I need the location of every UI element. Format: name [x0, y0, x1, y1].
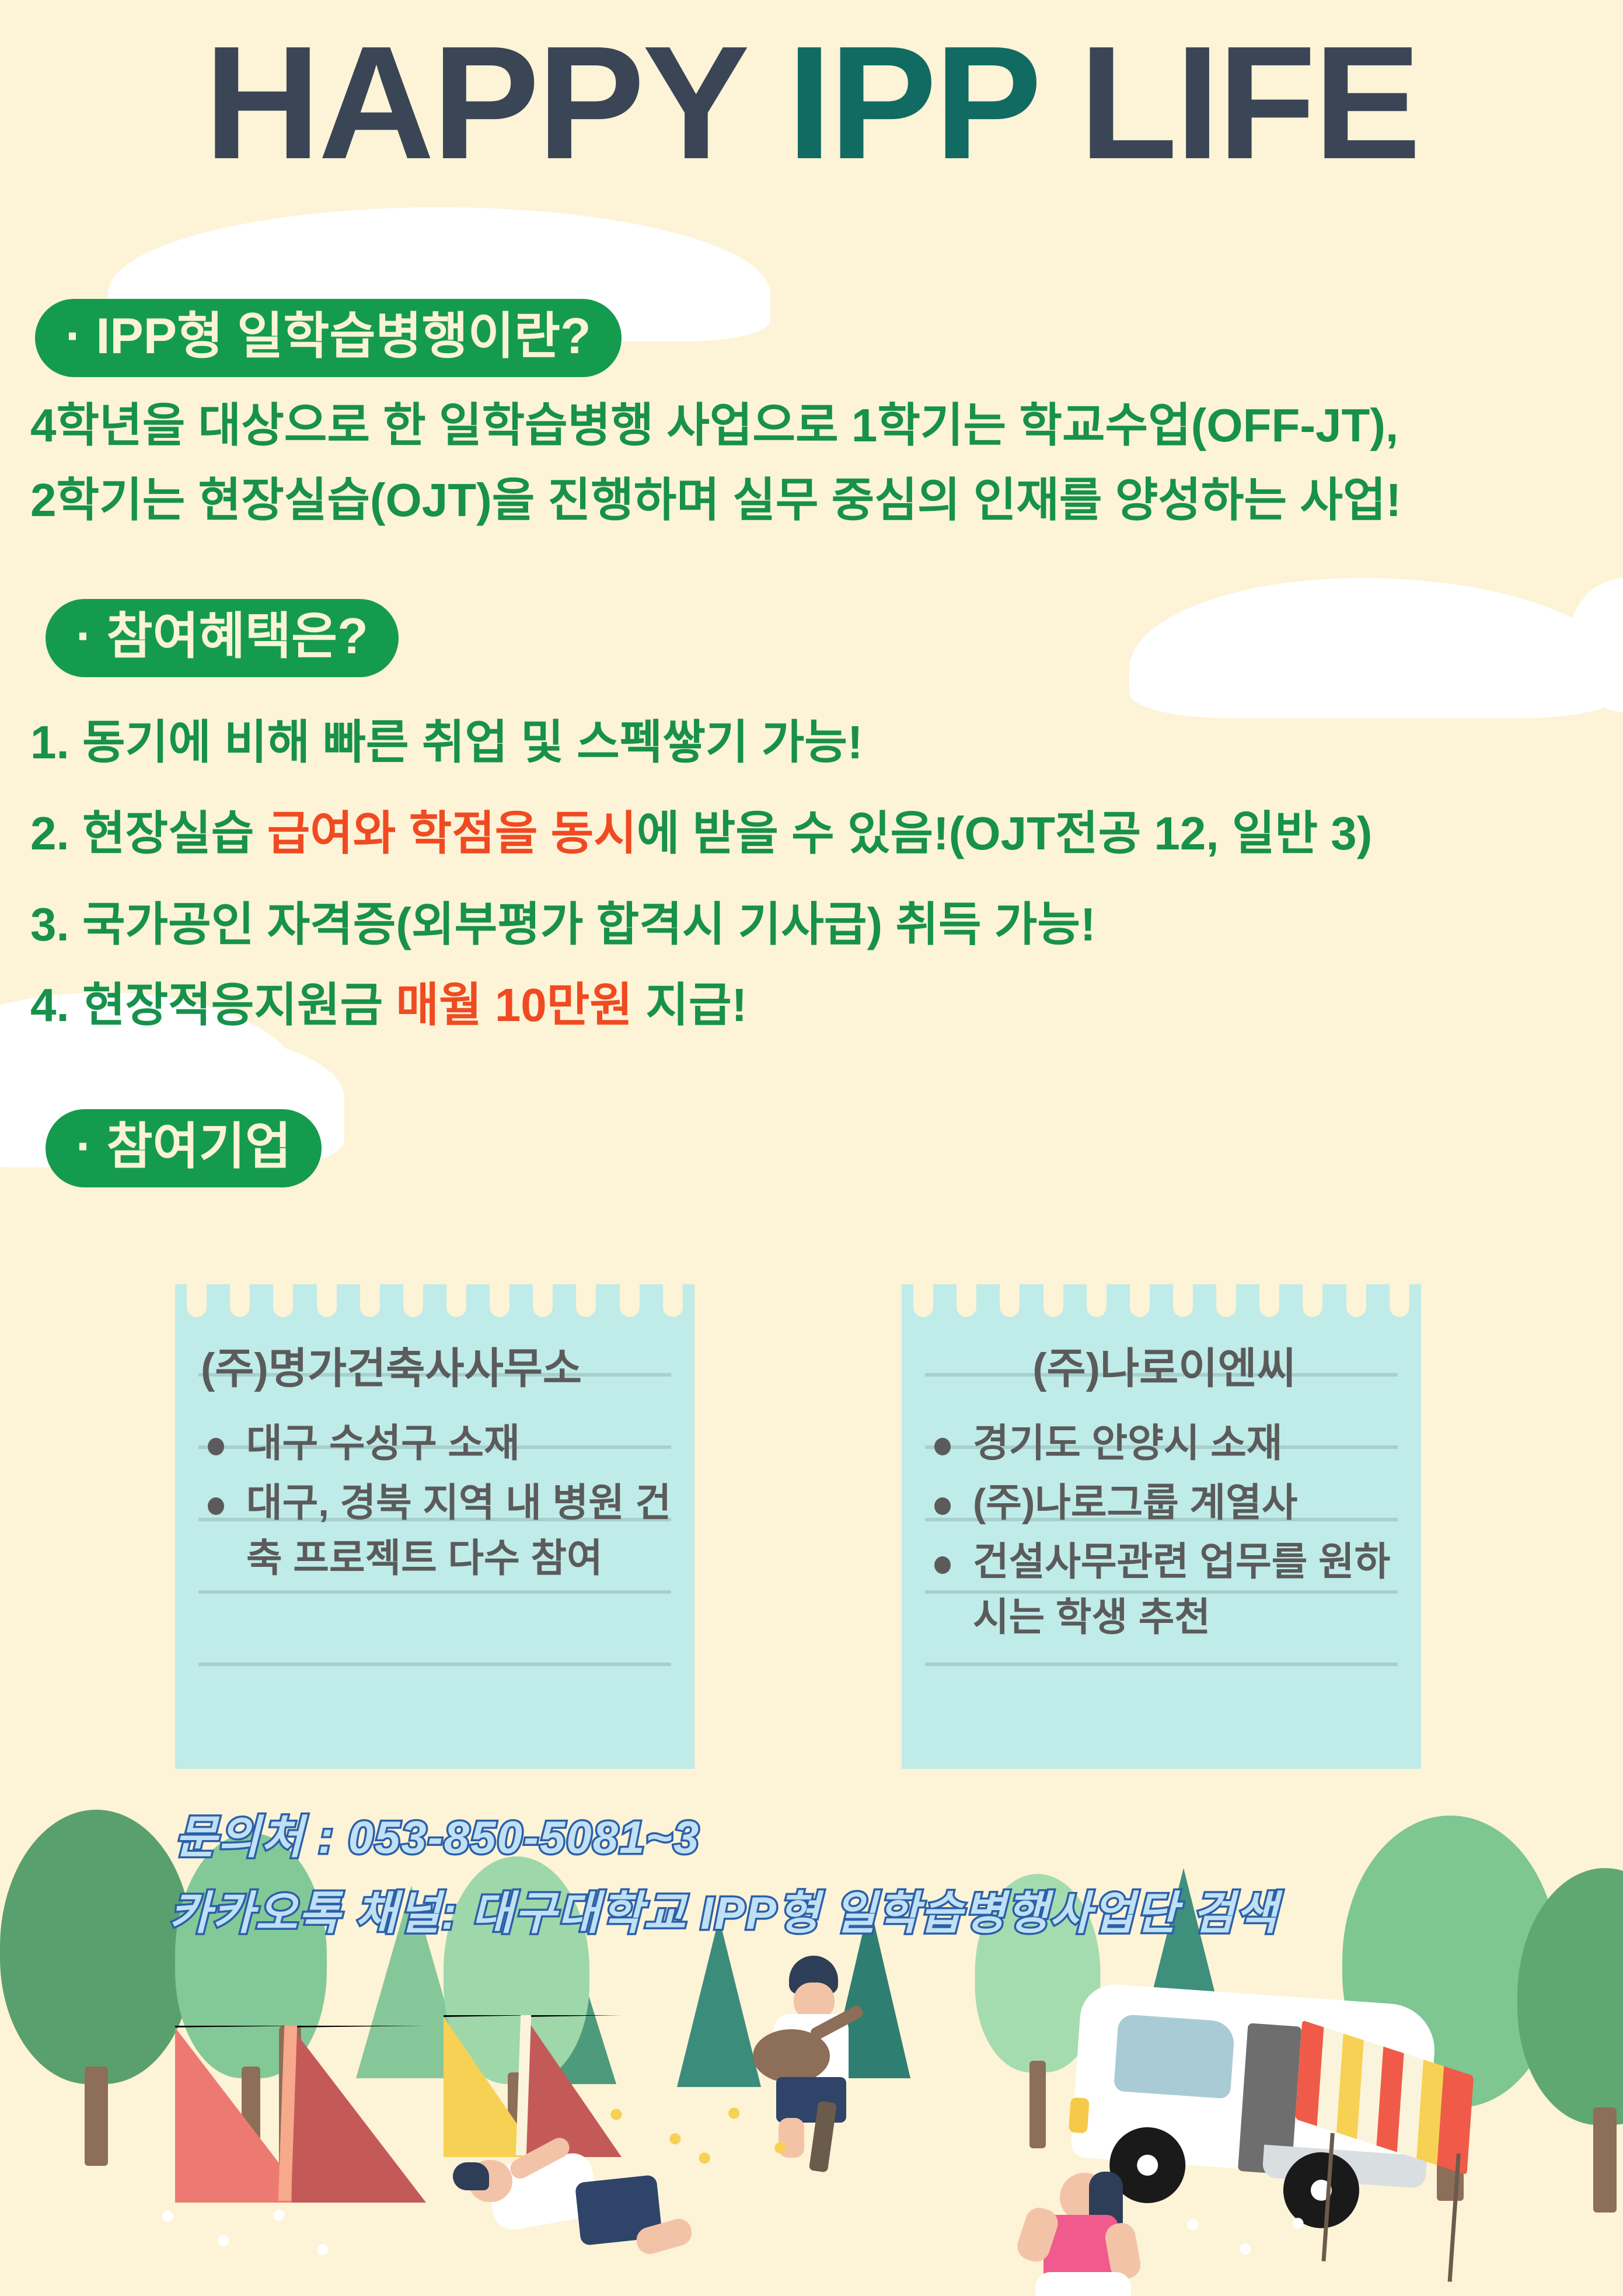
heading-benefits: · 참여혜택은?	[46, 599, 399, 677]
benefit-item-1: 1. 동기에 비해 빠른 취업 및 스펙쌓기 가능!	[30, 713, 863, 772]
flower-speckles-white	[140, 2201, 338, 2265]
poster-root: HAPPY IPP LIFE · IPP형 일학습병행이란? 4학년을 대상으로…	[0, 0, 1623, 2296]
benefit-text-2-pre: 현장실습	[82, 807, 267, 859]
benefit-text-2-post: 에 받을 수 있음!(OJT전공 12, 일반 3)	[637, 807, 1373, 859]
title-accent: IPP	[787, 13, 1037, 193]
title-main: HAPPY	[204, 13, 787, 193]
benefit-number-1: 1.	[30, 716, 69, 768]
van-window	[1114, 2014, 1235, 2099]
company-card-right: (주)나로이엔씨 경기도 안양시 소재 (주)나로그룹 계열사 건설사무관련 업…	[902, 1284, 1421, 1769]
benefit-text-3: 국가공인 자격증(외부평가 합격시 기사급) 취득 가능!	[82, 898, 1096, 950]
list-item: (주)나로그룹 계열사	[927, 1475, 1401, 1531]
round-tree-icon	[0, 1810, 193, 2137]
camping-illustration	[0, 1798, 1623, 2296]
contact-phone: 문의처 : 053-850-5081~3	[175, 1801, 700, 1866]
benefit-number-2: 2.	[30, 807, 69, 859]
flower-speckles-white-2	[1161, 2207, 1336, 2271]
list-item: 경기도 안양시 소재	[927, 1416, 1401, 1471]
benefit-item-4: 4. 현장적응지원금 매월 10만원 지급!	[30, 976, 747, 1034]
heading-companies: · 참여기업	[46, 1109, 322, 1187]
notepad-torn-edge-left	[175, 1284, 694, 1318]
list-item: 대구 수성구 소재	[201, 1416, 675, 1471]
benefit-text-1: 동기에 비해 빠른 취업 및 스펙쌓기 가능!	[82, 716, 863, 768]
benefit-item-2: 2. 현장실습 급여와 학점을 동시에 받을 수 있음!(OJT전공 12, 일…	[30, 804, 1372, 863]
van-headlight	[1069, 2097, 1090, 2133]
benefit-highlight-2: 급여와 학점을 동시	[267, 807, 637, 859]
heading-intro: · IPP형 일학습병행이란?	[35, 299, 622, 377]
benefit-highlight-4: 매월 10만원	[396, 979, 633, 1031]
company-name-left: (주)명가건축사사무소	[201, 1342, 675, 1396]
benefit-item-3: 3. 국가공인 자격증(외부평가 합격시 기사급) 취득 가능!	[30, 896, 1096, 954]
notepad-torn-edge-right	[902, 1284, 1421, 1318]
intro-line-2: 2학기는 현장실습(OJT)을 진행하며 실무 중심의 인재를 양성하는 사업!	[30, 467, 1401, 534]
cloud-right	[1129, 578, 1622, 718]
person-lying	[432, 2148, 677, 2283]
flower-speckles-yellow	[595, 2102, 805, 2166]
tent-red	[175, 2026, 432, 2201]
pine-tree-icon	[677, 1918, 761, 2087]
benefit-number-4: 4.	[30, 979, 69, 1031]
title-tail: LIFE	[1036, 13, 1419, 193]
benefit-text-4-pre: 현장적응지원금	[82, 979, 396, 1031]
contact-kakao: 카카오톡 채널: 대구대학교 IPP형 일학습병행사업단 검색	[169, 1877, 1279, 1942]
company-card-left: (주)명가건축사사무소 대구 수성구 소재 대구, 경북 지역 내 병원 건축 …	[175, 1284, 694, 1769]
list-item: 대구, 경북 지역 내 병원 건축 프로젝트 다수 참여	[201, 1475, 675, 1586]
person-sitting	[1004, 2172, 1173, 2296]
list-item: 건설사무관련 업무를 원하시는 학생 추천	[927, 1534, 1401, 1645]
intro-line-1: 4학년을 대상으로 한 일학습병행 사업으로 1학기는 학교수업(OFF-JT)…	[30, 392, 1398, 459]
company-bullets-right: 경기도 안양시 소재 (주)나로그룹 계열사 건설사무관련 업무를 원하시는 학…	[927, 1416, 1401, 1645]
company-card-right-content: (주)나로이엔씨 경기도 안양시 소재 (주)나로그룹 계열사 건설사무관련 업…	[927, 1318, 1401, 1649]
poster-title: HAPPY IPP LIFE	[0, 22, 1623, 183]
company-card-left-content: (주)명가건축사사무소 대구 수성구 소재 대구, 경북 지역 내 병원 건축 …	[201, 1318, 675, 1590]
company-name-right: (주)나로이엔씨	[927, 1342, 1401, 1396]
benefit-number-3: 3.	[30, 898, 69, 950]
round-tree-icon	[1517, 1868, 1623, 2195]
benefit-text-4-post: 지급!	[633, 979, 747, 1031]
company-bullets-left: 대구 수성구 소재 대구, 경북 지역 내 병원 건축 프로젝트 다수 참여	[201, 1416, 675, 1586]
